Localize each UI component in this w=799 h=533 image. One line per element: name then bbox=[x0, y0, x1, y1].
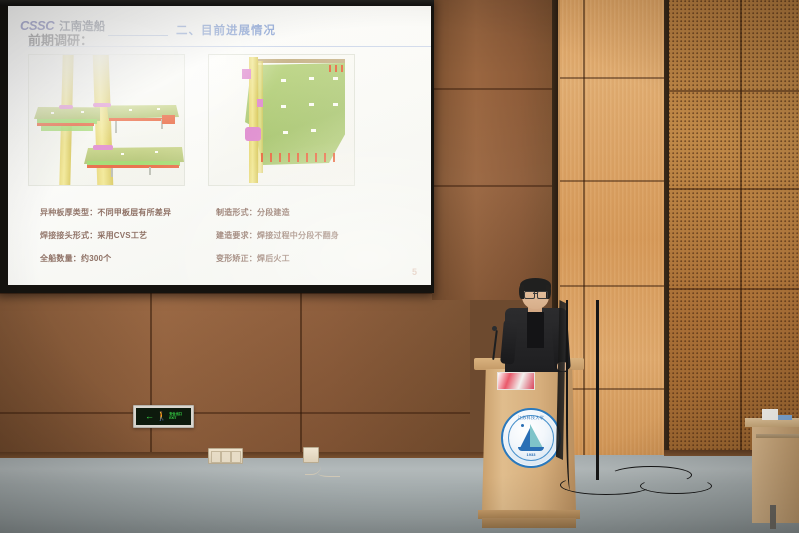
wall-seam bbox=[740, 0, 742, 455]
bullet-item: 焊接接头形式：采用CVS工艺 bbox=[40, 232, 147, 240]
wall-panel-perforated-right bbox=[668, 0, 799, 455]
wall-seam bbox=[432, 88, 558, 90]
wall-seam bbox=[668, 288, 799, 290]
running-man-icon: 🚶 bbox=[156, 412, 167, 421]
cad-marker bbox=[333, 103, 338, 106]
wall-seam bbox=[558, 180, 668, 182]
cad-marker bbox=[157, 108, 160, 110]
cad-support bbox=[111, 168, 113, 177]
cad-joint bbox=[245, 127, 261, 141]
arrow-left-icon: ← bbox=[145, 412, 154, 421]
cad-support bbox=[115, 121, 117, 133]
cad-marker bbox=[283, 131, 288, 134]
side-desk-shelf bbox=[756, 434, 799, 438]
cad-joint bbox=[93, 145, 113, 150]
desk-paper bbox=[762, 409, 778, 420]
cad-marker bbox=[311, 129, 316, 132]
emblem-hull bbox=[518, 447, 544, 451]
wall-panel-fabric-upper bbox=[432, 0, 558, 300]
slide-image-ship-structure-3d bbox=[28, 54, 185, 186]
bullet-item: 制造形式：分段建造 bbox=[216, 209, 290, 217]
cad-deck-weld bbox=[162, 115, 175, 124]
conference-room-scene: CSSC 江南造船 二、目前进展情况 前期调研： bbox=[0, 0, 799, 533]
wall-seam bbox=[558, 77, 668, 79]
cad-joint bbox=[257, 99, 263, 107]
podium-name-card bbox=[497, 372, 535, 390]
cad-marker bbox=[309, 77, 314, 80]
presentation-slide: CSSC 江南造船 二、目前进展情况 前期调研： bbox=[8, 6, 431, 285]
cad-marker bbox=[129, 109, 132, 111]
wall-switch[interactable] bbox=[221, 451, 231, 463]
cad-weld-row bbox=[261, 153, 339, 162]
speaker-shirt bbox=[527, 312, 544, 348]
wall-seam bbox=[668, 90, 799, 92]
cad-top-rail bbox=[249, 59, 345, 63]
floor-cable bbox=[596, 300, 599, 480]
floor-cable bbox=[640, 478, 712, 494]
wall-switch[interactable] bbox=[231, 451, 241, 463]
exit-sign-label: 安全出口 EXIT bbox=[169, 413, 182, 420]
cad-joint bbox=[242, 69, 251, 79]
floor-cable bbox=[566, 300, 576, 490]
microphone-head bbox=[492, 326, 497, 331]
cad-weld-row bbox=[329, 65, 345, 72]
bullet-item: 异种板厚类型：不同甲板层有所差异 bbox=[40, 209, 171, 217]
power-cable bbox=[318, 470, 340, 477]
cad-marker bbox=[51, 112, 54, 114]
speaker-glasses-bridge bbox=[533, 293, 537, 294]
wall-switch[interactable] bbox=[211, 451, 221, 463]
cad-marker bbox=[155, 151, 158, 153]
cad-marker bbox=[309, 103, 314, 106]
podium-base bbox=[482, 518, 576, 528]
projection-screen-surface: CSSC 江南造船 二、目前进展情况 前期调研： bbox=[8, 6, 431, 285]
cad-deck-weld bbox=[87, 165, 179, 168]
emblem-star-icon bbox=[521, 424, 524, 427]
cad-joint bbox=[93, 103, 111, 107]
wall-seam bbox=[300, 292, 302, 462]
slide-page-number: 5 bbox=[412, 267, 417, 277]
bullet-item: 建造要求：焊接过程中分段不翻身 bbox=[216, 232, 339, 240]
wall-trim-dark bbox=[664, 0, 669, 455]
cad-marker bbox=[281, 105, 286, 108]
emblem-year: 1933 bbox=[527, 452, 536, 457]
cad-support bbox=[149, 167, 151, 175]
emblem-text-cn: 江苏科技大学 bbox=[518, 415, 544, 421]
cad-joint bbox=[59, 105, 73, 109]
slide-image-deck-plate-3d bbox=[208, 54, 355, 186]
cad-marker bbox=[81, 111, 84, 113]
cad-marker bbox=[281, 79, 286, 82]
exit-label-en: EXIT bbox=[169, 416, 176, 420]
wall-seam bbox=[558, 285, 668, 287]
title-underline bbox=[28, 46, 431, 47]
university-emblem: 1933 江苏科技大学 bbox=[501, 408, 561, 468]
title-rule bbox=[108, 35, 168, 36]
speaker-glasses bbox=[537, 291, 548, 299]
wall-switch-plate[interactable] bbox=[208, 448, 243, 464]
cad-marker bbox=[121, 153, 124, 155]
slide-title: 二、目前进展情况 bbox=[176, 22, 276, 38]
wall-seam bbox=[668, 188, 799, 190]
exit-sign-face: ← 🚶 安全出口 EXIT bbox=[136, 408, 191, 425]
wall-seam bbox=[0, 412, 470, 414]
side-desk-leg bbox=[770, 505, 776, 529]
bullet-item: 变形矫正：焊后火工 bbox=[216, 255, 290, 263]
wall-seam bbox=[432, 185, 558, 187]
bullet-item: 全船数量：约300个 bbox=[40, 255, 111, 263]
emergency-exit-sign: ← 🚶 安全出口 EXIT bbox=[133, 405, 194, 428]
cad-marker bbox=[333, 77, 338, 80]
wall-seam bbox=[150, 292, 152, 462]
cad-deck-under bbox=[41, 126, 93, 131]
desk-paper-blue bbox=[778, 415, 792, 420]
